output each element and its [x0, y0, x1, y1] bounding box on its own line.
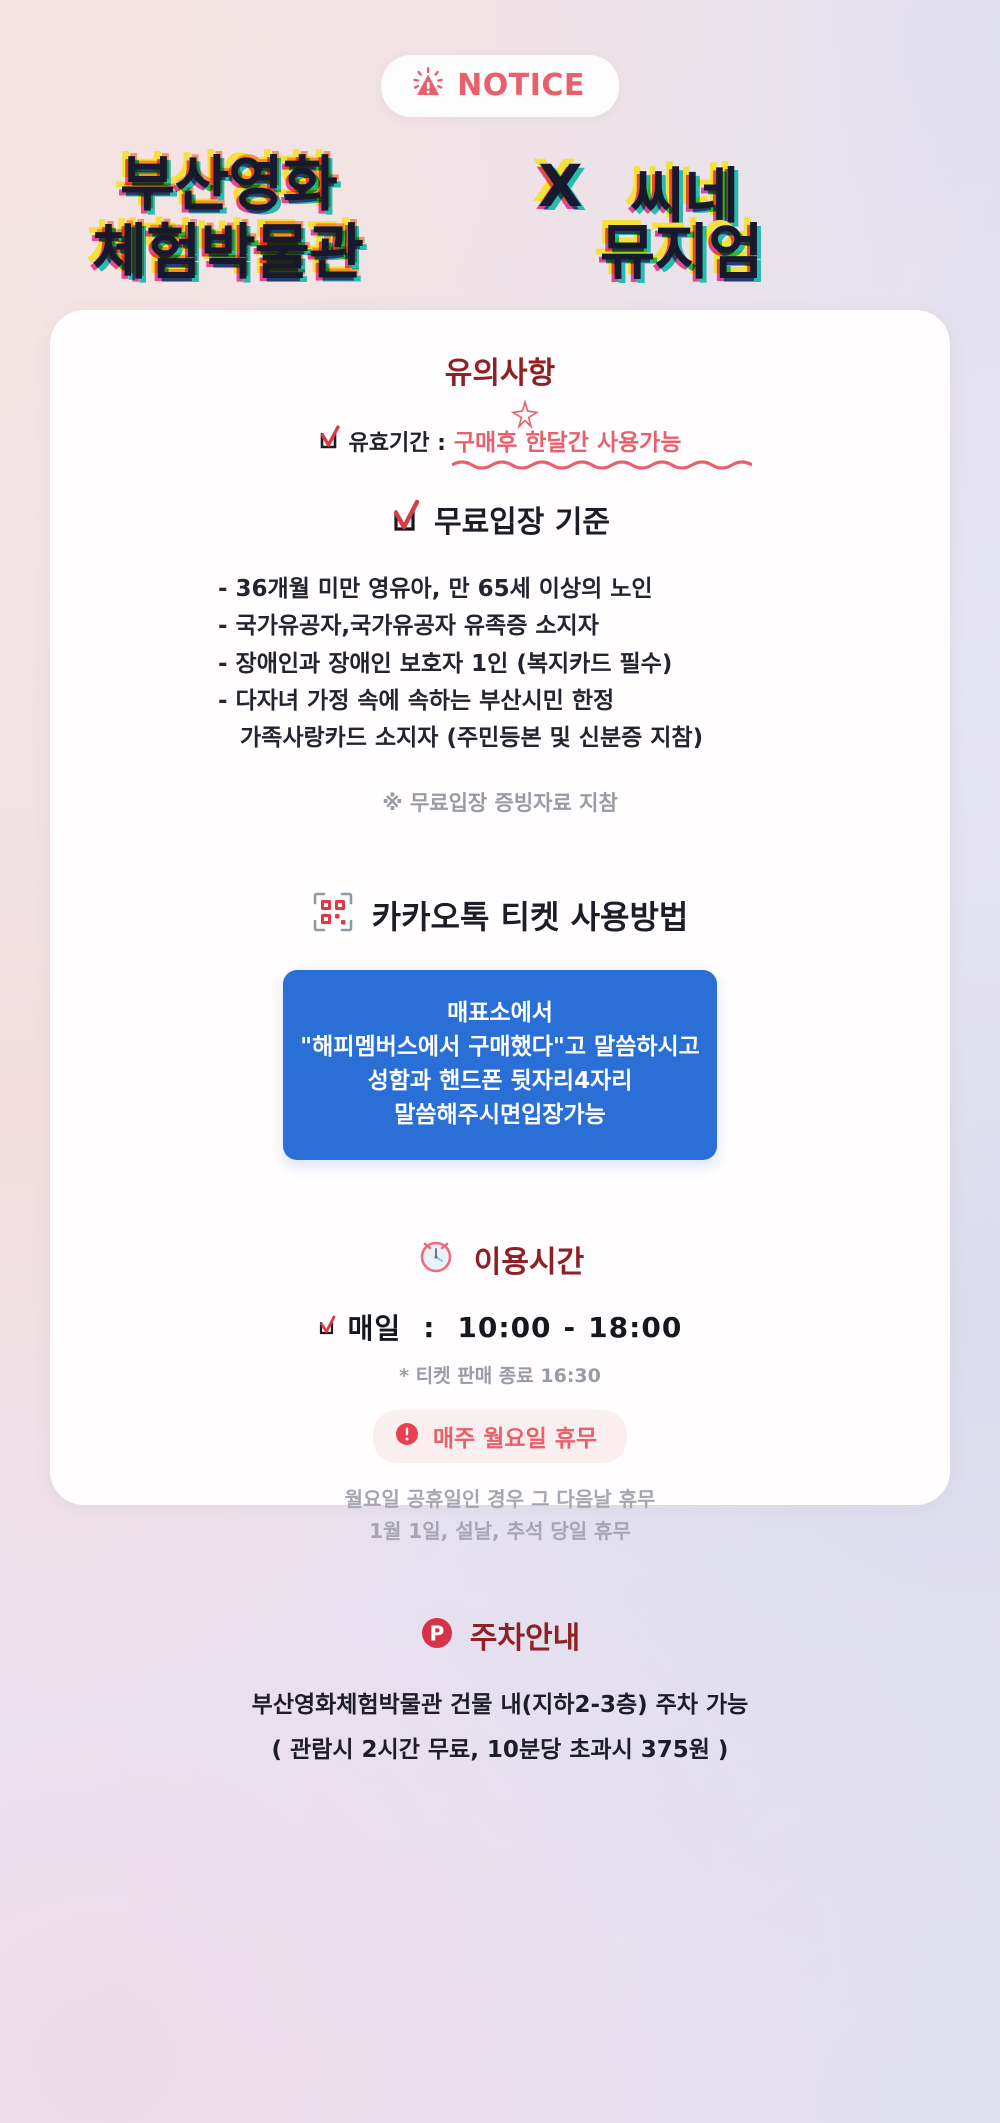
list-item: - 국가유공자,국가유공자 유족증 소지자: [218, 608, 950, 645]
parking-details: 부산영화체험박물관 건물 내(지하2-3층) 주차 가능 ( 관람시 2시간 무…: [50, 1683, 950, 1773]
kakao-instruction-box: 매표소에서 "해피멤버스에서 구매했다"고 말씀하시고 성함과 핸드폰 뒷자리4…: [283, 970, 717, 1160]
hours-dash: -: [564, 1311, 577, 1344]
kakao-box-line: "해피멤버스에서 구매했다"고 말씀하시고: [293, 1030, 707, 1064]
check-mark-icon: [390, 499, 420, 540]
alert-triangle-icon: [411, 66, 445, 105]
free-admission-proof-note: ※ 무료입장 증빙자료 지참: [50, 787, 950, 817]
notice-badge: NOTICE: [381, 55, 619, 117]
kakao-box-line: 말씀해주시면입장가능: [293, 1098, 707, 1132]
alarm-clock-icon: [416, 1236, 456, 1281]
validity-label: 유효기간 :: [348, 425, 445, 457]
check-mark-icon: [318, 425, 340, 457]
qr-scan-icon: [312, 891, 354, 938]
poster-title: 부산영화 부산영화 부산영화 부산영화 부산영화 씨네 씨네 씨네 씨네 체험박…: [0, 152, 1000, 312]
kakao-box-line: 성함과 핸드폰 뒷자리4자리: [293, 1064, 707, 1098]
check-mark-icon: [318, 1311, 336, 1344]
wavy-underline-icon: [452, 459, 752, 471]
parking-line: 부산영화체험박물관 건물 내(지하2-3층) 주차 가능: [50, 1683, 950, 1728]
parking-p-icon: P: [420, 1616, 454, 1655]
list-item: - 36개월 미만 영유아, 만 65세 이상의 노인: [218, 571, 950, 608]
parking-heading: 주차안내: [470, 1613, 580, 1657]
parking-line: ( 관람시 2시간 무료, 10분당 초과시 375원 ): [50, 1728, 950, 1773]
hours-heading-row: 이용시간: [50, 1236, 950, 1281]
hours-heading: 이용시간: [474, 1237, 584, 1281]
validity-value-wrap: 구매후 한달간 사용가능: [454, 423, 682, 459]
free-admission-list: - 36개월 미만 영유아, 만 65세 이상의 노인 - 국가유공자,국가유공…: [50, 571, 950, 757]
kakao-heading: 카카오톡 티켓 사용방법: [372, 892, 689, 938]
closed-day-badge: 매주 월요일 휴무: [373, 1410, 627, 1463]
title-x-separator: X: [538, 152, 582, 220]
svg-text:P: P: [429, 1621, 444, 1645]
title-line-1: 부산영화: [120, 150, 337, 220]
closed-note-line: 월요일 공휴일인 경우 그 다음날 휴무: [50, 1483, 950, 1515]
hours-close-time: 18:00: [588, 1311, 682, 1344]
validity-value: 구매후 한달간 사용가능: [454, 430, 682, 456]
free-admission-heading: 무료입장 기준: [434, 497, 610, 541]
closed-note-line: 1월 1일, 설날, 추석 당일 휴무: [50, 1515, 950, 1547]
title-line-4: 뮤지엄: [600, 218, 763, 288]
kakao-box-line: 매표소에서: [293, 996, 707, 1030]
list-item: - 다자녀 가정 속에 속하는 부산시민 한정: [218, 683, 950, 720]
notice-heading: 유의사항: [50, 348, 950, 392]
hours-open-time: 10:00: [457, 1311, 551, 1344]
free-admission-heading-row: 무료입장 기준: [50, 497, 950, 541]
kakao-heading-row: 카카오톡 티켓 사용방법: [50, 891, 950, 938]
title-line-2: 체험박물관: [92, 218, 363, 288]
hours-separator: :: [423, 1311, 435, 1344]
validity-row: 유효기간 : 구매후 한달간 사용가능: [50, 423, 950, 459]
ticket-sales-end-note: * 티켓 판매 종료 16:30: [50, 1361, 950, 1388]
closed-day-label: 매주 월요일 휴무: [433, 1419, 597, 1453]
list-item: 가족사랑카드 소지자 (주민등본 및 신분증 지참): [218, 720, 950, 757]
content-card: 유의사항 유효기간 : 구매후 한달간 사용가능: [50, 310, 950, 1505]
sparkle-star-icon: [510, 399, 540, 429]
hours-day-label: 매일: [348, 1307, 402, 1347]
exclamation-circle-icon: [395, 1422, 419, 1451]
hours-row: 매일 : 10:00 - 18:00: [50, 1307, 950, 1347]
parking-heading-row: P 주차안내: [50, 1613, 950, 1657]
closed-day-notes: 월요일 공휴일인 경우 그 다음날 휴무 1월 1일, 설날, 추석 당일 휴무: [50, 1483, 950, 1547]
notice-badge-label: NOTICE: [457, 71, 585, 101]
list-item: - 장애인과 장애인 보호자 1인 (복지카드 필수): [218, 646, 950, 683]
